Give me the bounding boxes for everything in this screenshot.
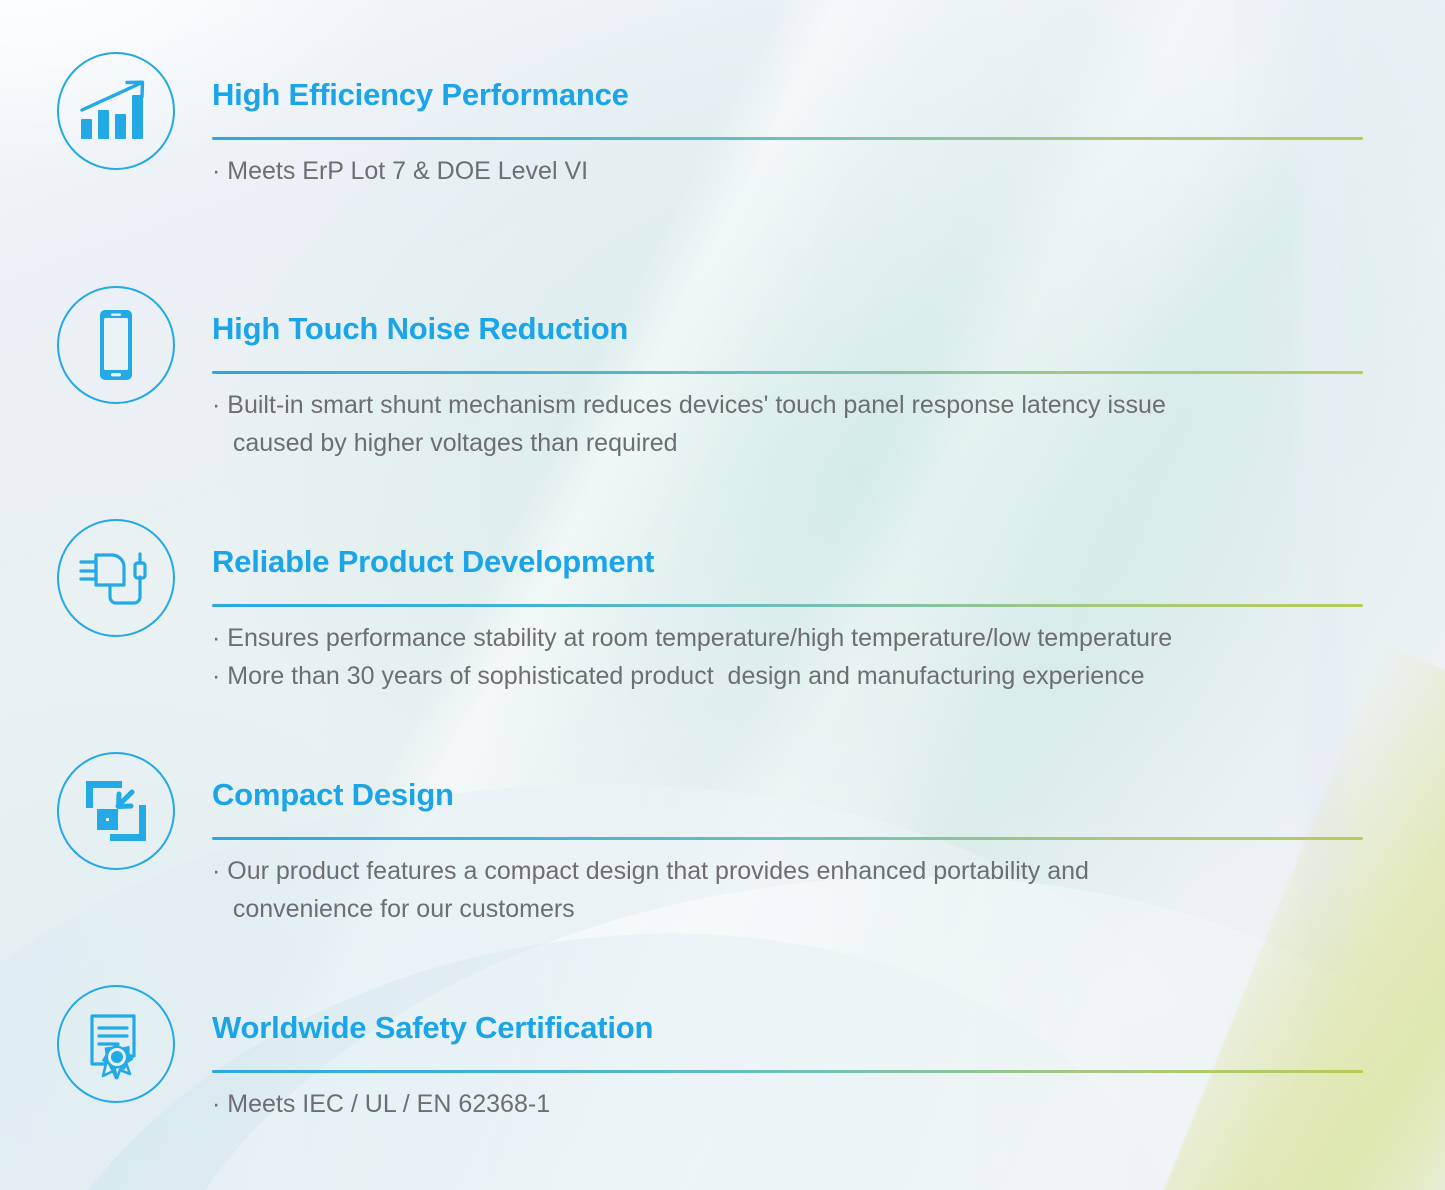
feature-title: High Touch Noise Reduction (212, 312, 1445, 345)
feature-divider-rule (212, 1070, 1363, 1073)
feature-text-block: Reliable Product Development · Ensures p… (212, 519, 1445, 695)
feature-bullet-line: · Built-in smart shunt mechanism reduces… (212, 386, 1445, 424)
feature-bullet-line: · Meets ErP Lot 7 & DOE Level VI (212, 152, 1445, 190)
feature-title: Reliable Product Development (212, 545, 1445, 578)
feature-divider-rule (212, 371, 1363, 374)
feature-bullet-line-continued: convenience for our customers (212, 890, 1445, 928)
feature-divider-rule (212, 604, 1363, 607)
feature-title: Compact Design (212, 778, 1445, 811)
feature-text-block: Worldwide Safety Certification · Meets I… (212, 985, 1445, 1123)
feature-bullet-line: · Ensures performance stability at room … (212, 619, 1445, 657)
feature-bullet-line: · More than 30 years of sophisticated pr… (212, 657, 1445, 695)
power-adapter-icon (57, 519, 175, 637)
feature-description: · Built-in smart shunt mechanism reduces… (212, 386, 1445, 462)
feature-description: · Meets ErP Lot 7 & DOE Level VI (212, 152, 1445, 190)
feature-divider-rule (212, 837, 1363, 840)
smartphone-icon (57, 286, 175, 404)
feature-description: · Our product features a compact design … (212, 852, 1445, 928)
feature-bullet-line: · Meets IEC / UL / EN 62368-1 (212, 1085, 1445, 1123)
feature-bullet-line-continued: caused by higher voltages than required (212, 424, 1445, 462)
feature-text-block: High Touch Noise Reduction · Built-in sm… (212, 286, 1445, 462)
feature-text-block: High Efficiency Performance · Meets ErP … (212, 52, 1445, 190)
feature-description: · Ensures performance stability at room … (212, 619, 1445, 695)
feature-description: · Meets IEC / UL / EN 62368-1 (212, 1085, 1445, 1123)
feature-infographic-page: High Efficiency Performance · Meets ErP … (0, 0, 1445, 1190)
bar-chart-growth-icon (57, 52, 175, 170)
feature-bullet-line: · Our product features a compact design … (212, 852, 1445, 890)
feature-title: Worldwide Safety Certification (212, 1011, 1445, 1044)
certificate-award-icon (57, 985, 175, 1103)
compact-resize-icon (57, 752, 175, 870)
feature-title: High Efficiency Performance (212, 78, 1445, 111)
feature-divider-rule (212, 137, 1363, 140)
feature-text-block: Compact Design · Our product features a … (212, 752, 1445, 928)
